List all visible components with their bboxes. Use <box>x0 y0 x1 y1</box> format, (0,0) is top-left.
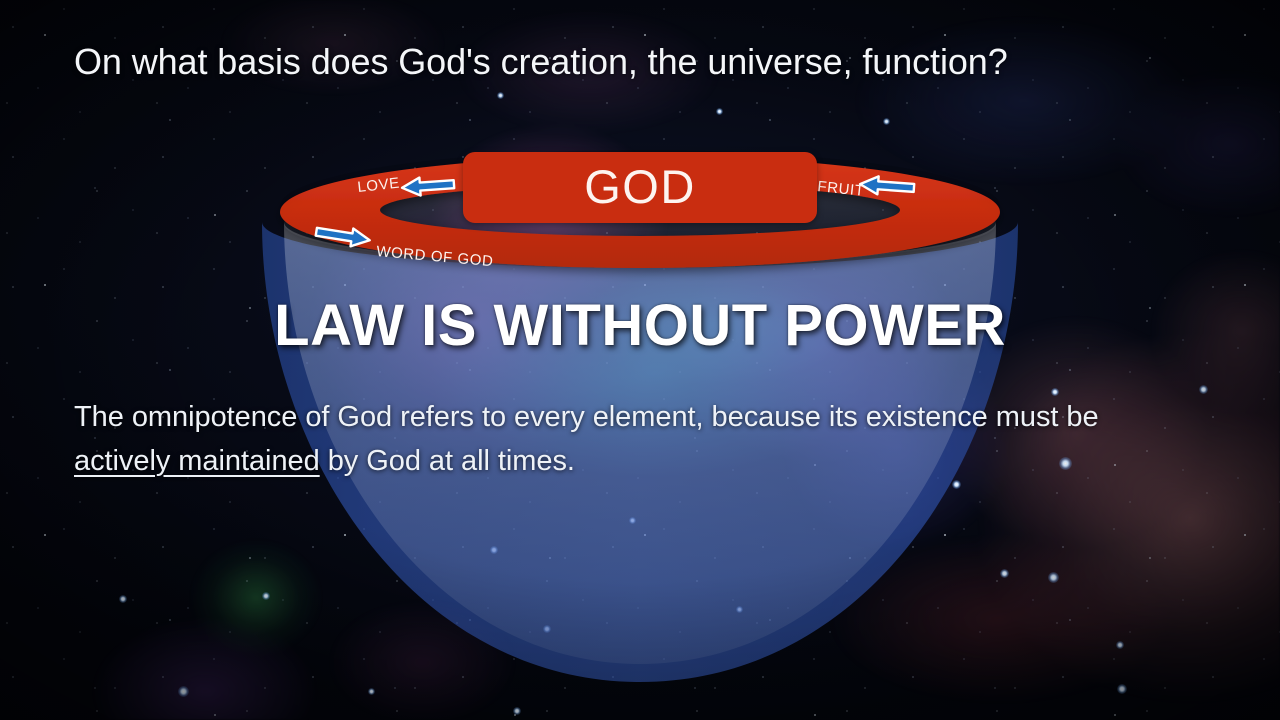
god-label: GOD <box>584 163 696 210</box>
headline-text: LAW IS WITHOUT POWER <box>274 297 1006 355</box>
bright-star <box>1051 388 1059 396</box>
bright-star <box>1116 641 1124 649</box>
headline: LAW IS WITHOUT POWER <box>0 297 1280 355</box>
body-paragraph: The omnipotence of God refers to every e… <box>74 396 1194 483</box>
bright-star <box>513 707 521 715</box>
bright-star <box>1048 572 1059 583</box>
slide-canvas: LOVE FRUIT WORD OF GOD GOD On what basis… <box>0 0 1280 720</box>
bright-star <box>716 108 723 115</box>
body-text-emphasis: actively maintained <box>74 445 320 477</box>
bright-star <box>119 595 127 603</box>
body-text-before: The omnipotence of God refers to every e… <box>74 401 1099 433</box>
bright-star <box>178 686 189 697</box>
bright-star <box>497 92 504 99</box>
body-text-after: by God at all times. <box>320 445 575 477</box>
bright-star <box>883 118 890 125</box>
bright-star <box>1117 684 1127 694</box>
bright-star <box>1199 385 1208 394</box>
ring-label-fruit: FRUIT <box>817 178 866 200</box>
slide-title: On what basis does God's creation, the u… <box>74 41 1204 83</box>
god-box[interactable]: GOD <box>463 152 817 223</box>
